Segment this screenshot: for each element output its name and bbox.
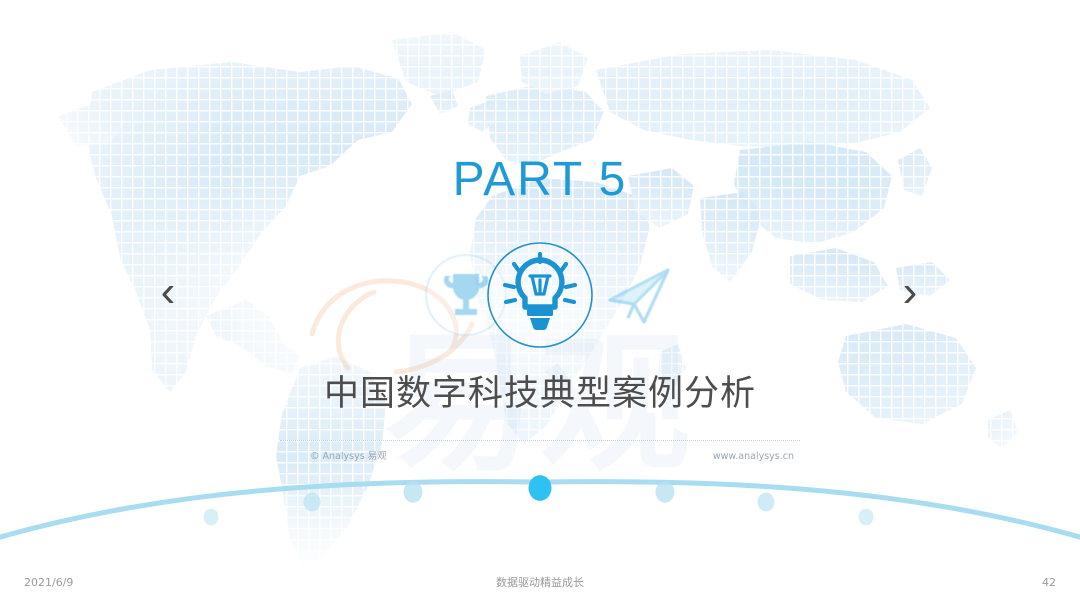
part-number-label: PART 5 — [0, 152, 1080, 208]
progress-dot-group — [204, 475, 874, 525]
progress-dot[interactable] — [758, 492, 775, 511]
dotted-divider — [280, 440, 800, 441]
slide-footer: 2021/6/9 数据驱动精益成长 42 — [0, 573, 1080, 593]
section-progress-arc — [0, 462, 1080, 542]
slide-title: 中国数字科技典型案例分析 — [0, 370, 1080, 418]
next-slide-chevron-icon[interactable]: › — [890, 268, 930, 316]
footer-page-number: 42 — [1042, 573, 1056, 593]
progress-dot[interactable] — [859, 509, 874, 526]
progress-dot[interactable] — [404, 481, 423, 502]
paper-plane-icon — [596, 252, 682, 338]
credit-bar: © Analysys 易观 www.analysys.cn — [280, 440, 800, 464]
footer-tagline: 数据驱动精益成长 — [0, 573, 1080, 593]
progress-dot[interactable] — [656, 481, 675, 502]
progress-dot-active[interactable] — [529, 475, 552, 501]
progress-dot[interactable] — [204, 509, 219, 526]
presentation-slide: 易观 PART 5 — [0, 0, 1080, 608]
progress-dot[interactable] — [304, 492, 321, 511]
previous-slide-chevron-icon[interactable]: ‹ — [148, 268, 188, 316]
lightbulb-icon — [485, 240, 595, 350]
